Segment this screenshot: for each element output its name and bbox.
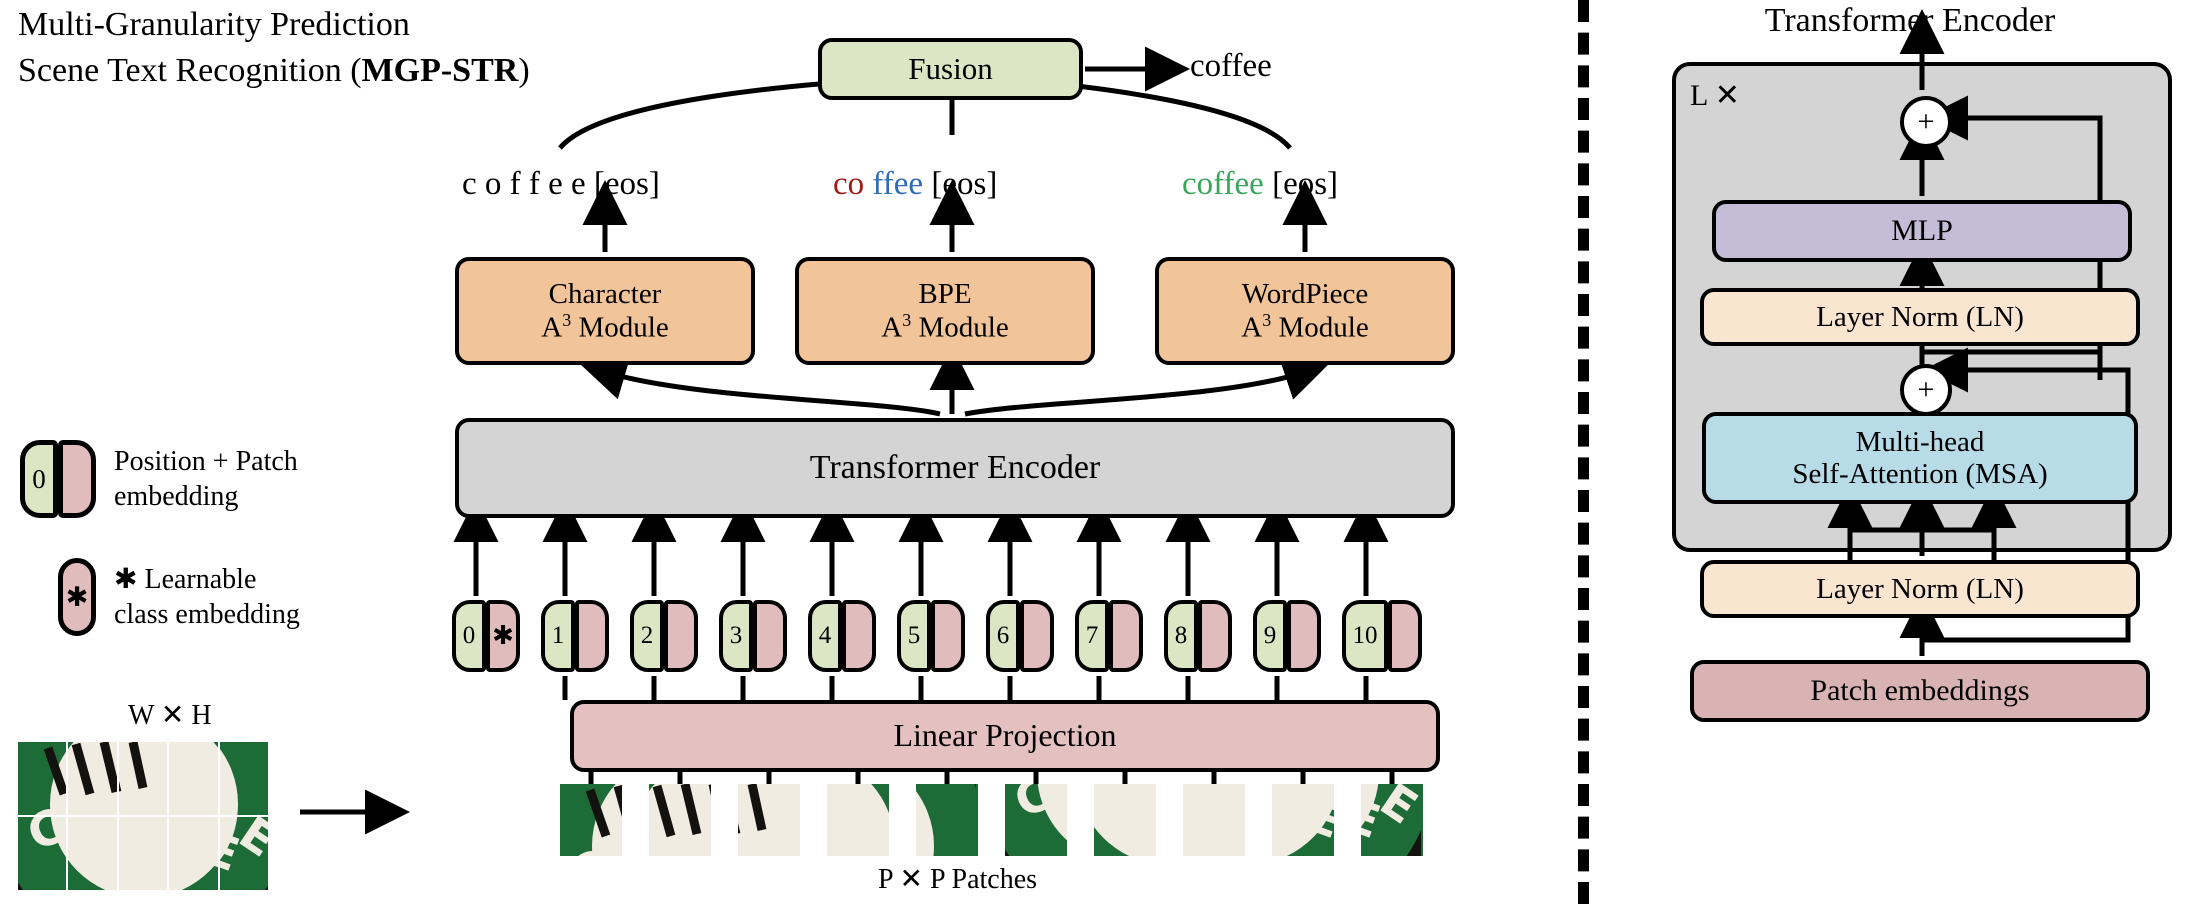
msa-block[interactable]: Multi-head Self-Attention (MSA) xyxy=(1702,412,2138,504)
msa-line-2: Self-Attention (MSA) xyxy=(1792,458,2047,490)
layer-norm-top-block[interactable]: Layer Norm (LN) xyxy=(1700,288,2140,346)
layer-norm-bottom-block[interactable]: Layer Norm (LN) xyxy=(1700,560,2140,618)
residual-add-bottom: + xyxy=(1900,364,1952,416)
msa-line-1: Multi-head xyxy=(1856,426,1985,458)
residual-add-top: + xyxy=(1900,96,1952,148)
patch-embeddings-block[interactable]: Patch embeddings xyxy=(1690,660,2150,722)
mlp-block[interactable]: MLP xyxy=(1712,200,2132,262)
